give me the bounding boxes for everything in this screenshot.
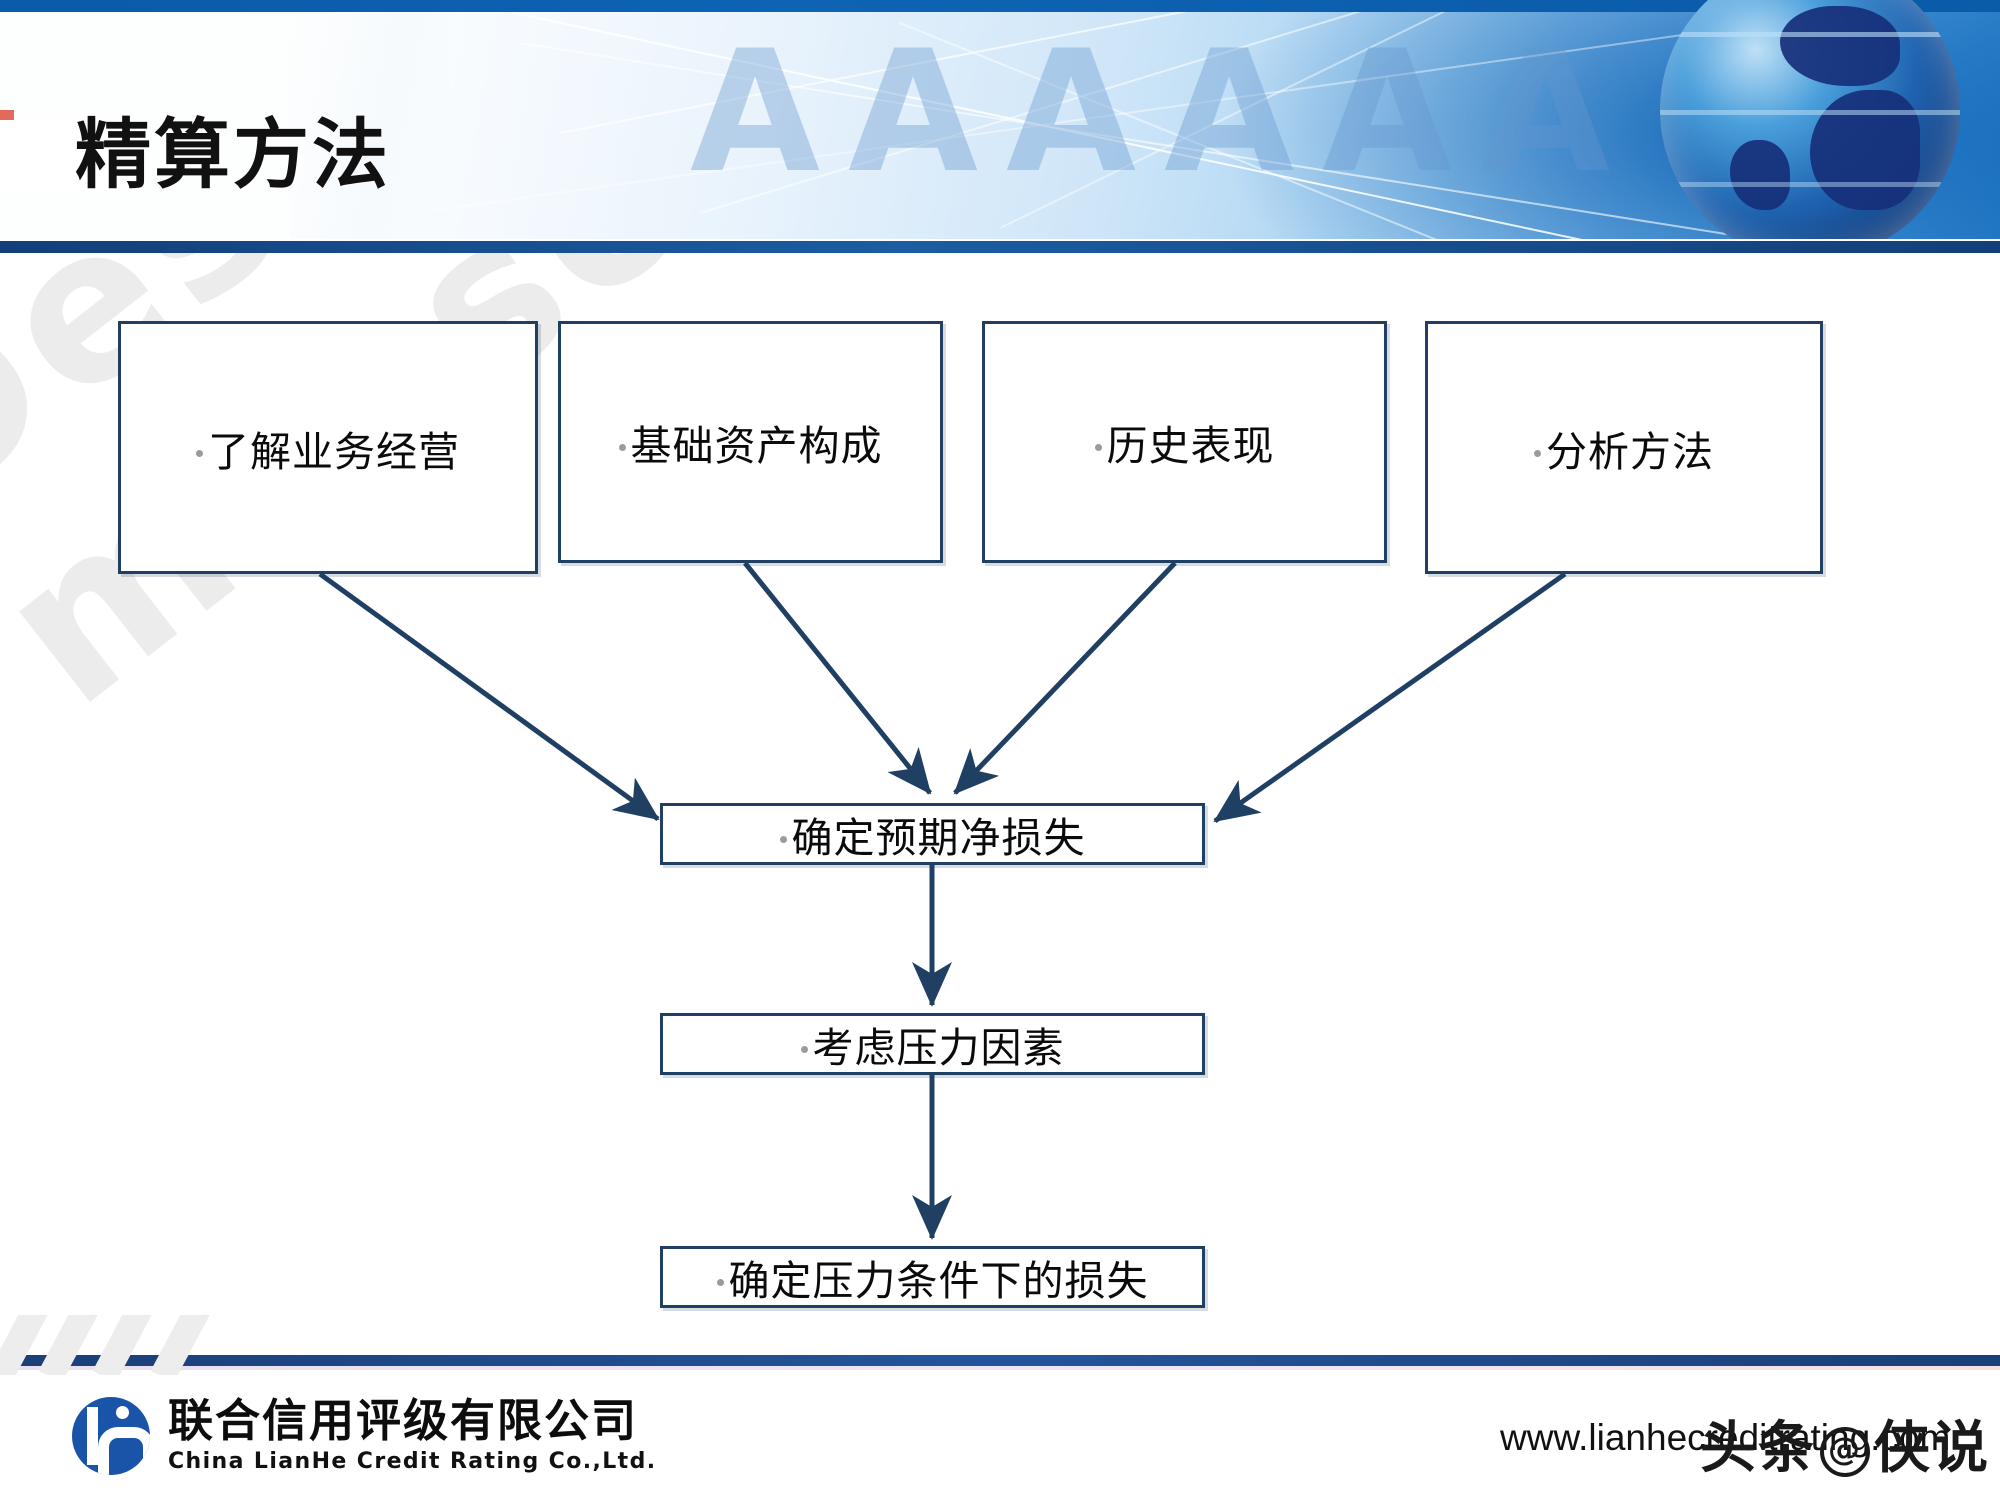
- company-logo: 联合信用评级有限公司 China LianHe Credit Rating Co…: [72, 1397, 656, 1475]
- bullet-icon: [780, 836, 787, 843]
- flow-node-text: 分析方法: [1546, 428, 1714, 476]
- flow-node-label: 确定预期净损失: [780, 804, 1086, 864]
- slide-footer: 联合信用评级有限公司 China LianHe Credit Rating Co…: [0, 1355, 2000, 1500]
- flow-node-label: 基础资产构成: [619, 412, 883, 472]
- source-watermark-suffix: 侠说: [1874, 1416, 1990, 1481]
- bullet-icon: [196, 450, 203, 457]
- flowchart: 了解业务经营 基础资产构成 历史表现 分析方法 确定预期净损失 考虑压力因素 确…: [0, 253, 2000, 1343]
- flow-node-label: 分析方法: [1534, 418, 1714, 478]
- page-title: 精算方法: [75, 93, 391, 203]
- flow-node-label: 确定压力条件下的损失: [717, 1247, 1149, 1307]
- header-bottom-bar: [0, 239, 2000, 253]
- flow-node-label: 了解业务经营: [196, 418, 460, 478]
- flow-node-understand-business[interactable]: 了解业务经营: [118, 321, 538, 574]
- flow-node-text: 确定预期净损失: [792, 814, 1086, 862]
- flow-node-text: 历史表现: [1107, 422, 1275, 470]
- company-name-cn: 联合信用评级有限公司: [168, 1398, 656, 1444]
- header-aaa-watermark: AAAAAA: [690, 14, 1638, 210]
- lianhe-logo-icon: [72, 1397, 150, 1475]
- edge-asset-pool-to-expected-loss: [745, 563, 930, 793]
- footer-decorative-stripes: [0, 1315, 320, 1375]
- flow-node-analysis-method[interactable]: 分析方法: [1425, 321, 1823, 574]
- source-watermark: 头条@侠说: [1700, 1403, 1990, 1484]
- globe-icon: [1660, 0, 1960, 253]
- flow-node-label: 考虑压力因素: [801, 1014, 1065, 1074]
- flow-node-text: 基础资产构成: [631, 422, 883, 470]
- at-icon: @: [1820, 1427, 1870, 1477]
- flow-node-stressed-loss[interactable]: 确定压力条件下的损失: [660, 1246, 1205, 1308]
- edge-history-to-expected-loss: [955, 563, 1175, 793]
- flow-node-text: 了解业务经营: [208, 428, 460, 476]
- bullet-icon: [1095, 444, 1102, 451]
- flow-node-history[interactable]: 历史表现: [982, 321, 1387, 563]
- flow-node-asset-pool[interactable]: 基础资产构成: [558, 321, 943, 563]
- edge-analysis-method-to-expected-loss: [1215, 574, 1565, 821]
- company-name-en: China LianHe Credit Rating Co.,Ltd.: [168, 1449, 656, 1474]
- presentation-slide: ussem Dessa messo AAAAAA 精: [0, 0, 2000, 1500]
- bullet-icon: [619, 444, 626, 451]
- flow-node-stress-factors[interactable]: 考虑压力因素: [660, 1013, 1205, 1075]
- company-name-block: 联合信用评级有限公司 China LianHe Credit Rating Co…: [168, 1398, 656, 1474]
- flow-node-label: 历史表现: [1095, 412, 1275, 472]
- bullet-icon: [717, 1279, 724, 1286]
- edge-understand-business-to-expected-loss: [320, 574, 658, 819]
- flow-node-expected-net-loss[interactable]: 确定预期净损失: [660, 803, 1205, 865]
- bullet-icon: [801, 1046, 808, 1053]
- flow-node-text: 考虑压力因素: [813, 1024, 1065, 1072]
- flow-node-text: 确定压力条件下的损失: [729, 1257, 1149, 1305]
- bullet-icon: [1534, 450, 1541, 457]
- source-watermark-prefix: 头条: [1700, 1416, 1816, 1481]
